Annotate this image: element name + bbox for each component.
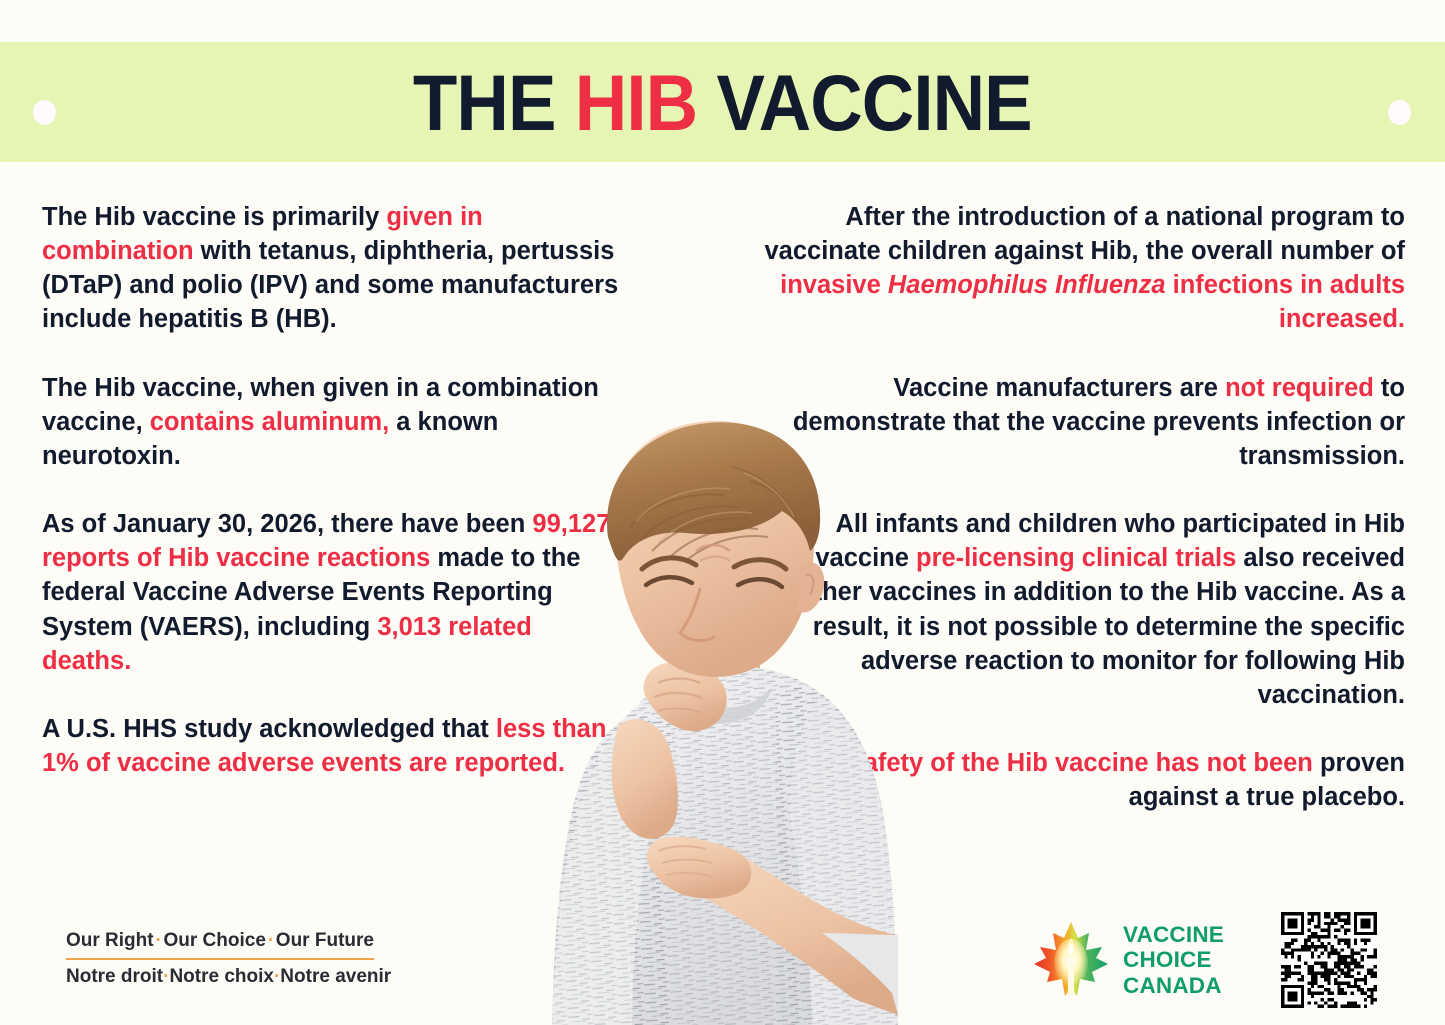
page-title: THE HIB VACCINE bbox=[413, 63, 1032, 142]
logo-line-1: VACCINE bbox=[1123, 922, 1224, 947]
text-segment: The Hib vaccine is primarily bbox=[42, 203, 386, 231]
text-segment: contains aluminum, bbox=[150, 408, 389, 436]
tagline-fr-2: Notre choix bbox=[169, 966, 274, 988]
paragraph-clinical-trials: All infants and children who participate… bbox=[760, 507, 1405, 712]
tagline-separator-dot-icon: · bbox=[268, 930, 274, 952]
text-segment: A U.S. HHS study acknowledged that bbox=[42, 715, 496, 743]
tagline-separator-dot-icon: · bbox=[155, 930, 161, 952]
text-segment: invasive bbox=[780, 271, 888, 299]
tagline-en-3: Our Future bbox=[276, 930, 374, 952]
header-banner: THE HIB VACCINE bbox=[0, 42, 1445, 162]
page-title-part2: VACCINE bbox=[697, 58, 1032, 147]
tagline-divider bbox=[66, 958, 374, 960]
tagline-fr-3: Notre avenir bbox=[280, 966, 391, 988]
paragraph-adult-infections: After the introduction of a national pro… bbox=[760, 200, 1405, 337]
text-segment: pre-licensing clinical trials bbox=[916, 544, 1236, 572]
tagline-en-1: Our Right bbox=[66, 930, 154, 952]
paragraph-not-required: Vaccine manufacturers are not required t… bbox=[760, 371, 1405, 473]
tagline-fr-1: Notre droit bbox=[66, 966, 163, 988]
text-segment: The bbox=[797, 749, 849, 777]
paragraph-true-placebo: The safety of the Hib vaccine has not be… bbox=[760, 746, 1405, 814]
text-segment: not required bbox=[1225, 374, 1374, 402]
paragraph-aluminum: The Hib vaccine, when given in a combina… bbox=[42, 371, 622, 473]
paragraph-underreporting: A U.S. HHS study acknowledged that less … bbox=[42, 712, 622, 780]
paragraph-vaers: As of January 30, 2026, there have been … bbox=[42, 507, 622, 678]
right-text-column: After the introduction of a national pro… bbox=[760, 200, 1405, 848]
maple-leaf-candle-icon bbox=[1032, 920, 1110, 1000]
logo-line-3: CANADA bbox=[1123, 973, 1224, 998]
page-title-part1: THE bbox=[413, 58, 575, 147]
hib-vaccine-infographic: THE HIB VACCINE The Hib vaccine is prima… bbox=[0, 0, 1445, 1025]
text-segment: After the introduction of a national pro… bbox=[764, 203, 1405, 265]
text-segment: As of January 30, 2026, there have been bbox=[42, 510, 532, 538]
left-text-column: The Hib vaccine is primarily given in co… bbox=[42, 200, 622, 814]
tagline-french: Notre droit · Notre choix · Notre avenir bbox=[66, 966, 374, 988]
page-title-highlight: HIB bbox=[575, 58, 697, 147]
punch-hole-left-icon bbox=[33, 100, 56, 125]
text-segment: safety of the Hib vaccine has not been bbox=[850, 749, 1313, 777]
text-segment: infections in adults increased. bbox=[1166, 271, 1405, 333]
tagline-en-2: Our Choice bbox=[164, 930, 266, 952]
tagline-block: Our Right · Our Choice · Our Future Notr… bbox=[66, 930, 374, 988]
text-segment: Haemophilus Influenza bbox=[888, 271, 1166, 299]
punch-hole-right-icon bbox=[1388, 100, 1411, 125]
tagline-english: Our Right · Our Choice · Our Future bbox=[66, 930, 374, 952]
logo-wordmark: VACCINE CHOICE CANADA bbox=[1123, 922, 1224, 998]
qr-code[interactable] bbox=[1281, 912, 1377, 1008]
vaccine-choice-canada-logo[interactable]: VACCINE CHOICE CANADA bbox=[1032, 920, 1224, 1000]
paragraph-combination: The Hib vaccine is primarily given in co… bbox=[42, 200, 622, 337]
logo-line-2: CHOICE bbox=[1123, 947, 1224, 972]
text-segment: Vaccine manufacturers are bbox=[893, 374, 1225, 402]
